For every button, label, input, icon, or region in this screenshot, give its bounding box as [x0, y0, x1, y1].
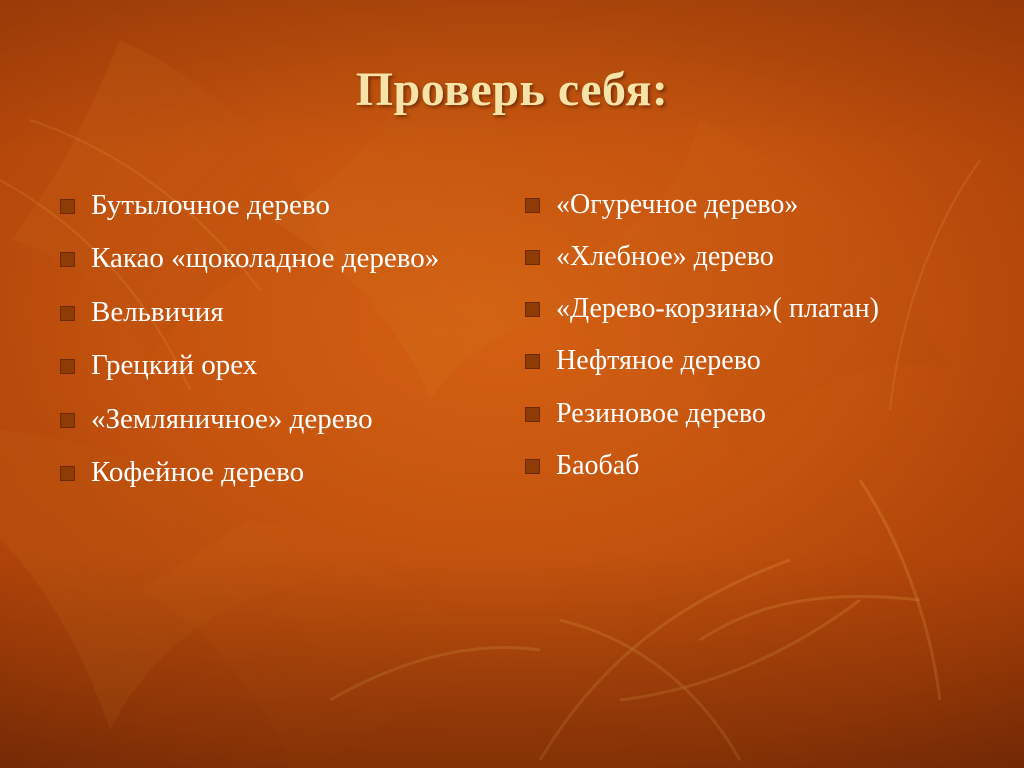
- list-item: «Хлебное» дерево: [525, 240, 985, 274]
- list-item: Бутылочное дерево: [60, 188, 510, 223]
- slide-title: Проверь себя:: [0, 62, 1024, 117]
- square-bullet-icon: [525, 302, 540, 317]
- list-item-label: Резиновое дерево: [556, 397, 766, 431]
- square-bullet-icon: [60, 466, 75, 481]
- list-item-label: Кофейное дерево: [91, 455, 304, 490]
- list-item: Баобаб: [525, 449, 985, 483]
- square-bullet-icon: [60, 359, 75, 374]
- square-bullet-icon: [525, 407, 540, 422]
- list-item-label: Грецкий орех: [91, 348, 257, 383]
- list-item-label: «Огуречное дерево»: [556, 188, 798, 222]
- list-item: Какао «щоколадное дерево»: [60, 241, 510, 276]
- list-item-label: «Земляничное» дерево: [91, 402, 373, 437]
- square-bullet-icon: [60, 413, 75, 428]
- list-item-label: Какао «щоколадное дерево»: [91, 241, 439, 276]
- list-item: «Земляничное» дерево: [60, 402, 510, 437]
- list-item-label: Вельвичия: [91, 295, 224, 330]
- square-bullet-icon: [525, 354, 540, 369]
- presentation-slide: Проверь себя: Бутылочное дерево Какао «щ…: [0, 0, 1024, 768]
- square-bullet-icon: [525, 459, 540, 474]
- list-item: «Дерево-корзина»( платан): [525, 292, 985, 326]
- list-item-label: Баобаб: [556, 449, 639, 483]
- list-item: Вельвичия: [60, 295, 510, 330]
- bullet-list-left: Бутылочное дерево Какао «щоколадное дере…: [60, 188, 510, 508]
- list-item: «Огуречное дерево»: [525, 188, 985, 222]
- list-item: Нефтяное дерево: [525, 344, 985, 378]
- square-bullet-icon: [60, 252, 75, 267]
- square-bullet-icon: [60, 199, 75, 214]
- list-item-label: «Дерево-корзина»( платан): [556, 292, 879, 326]
- square-bullet-icon: [525, 250, 540, 265]
- list-item: Грецкий орех: [60, 348, 510, 383]
- list-item-label: «Хлебное» дерево: [556, 240, 774, 274]
- list-item-label: Бутылочное дерево: [91, 188, 330, 223]
- square-bullet-icon: [525, 198, 540, 213]
- square-bullet-icon: [60, 306, 75, 321]
- list-item: Кофейное дерево: [60, 455, 510, 490]
- bullet-list-right: «Огуречное дерево» «Хлебное» дерево «Дер…: [525, 188, 985, 501]
- list-item-label: Нефтяное дерево: [556, 344, 761, 378]
- list-item: Резиновое дерево: [525, 397, 985, 431]
